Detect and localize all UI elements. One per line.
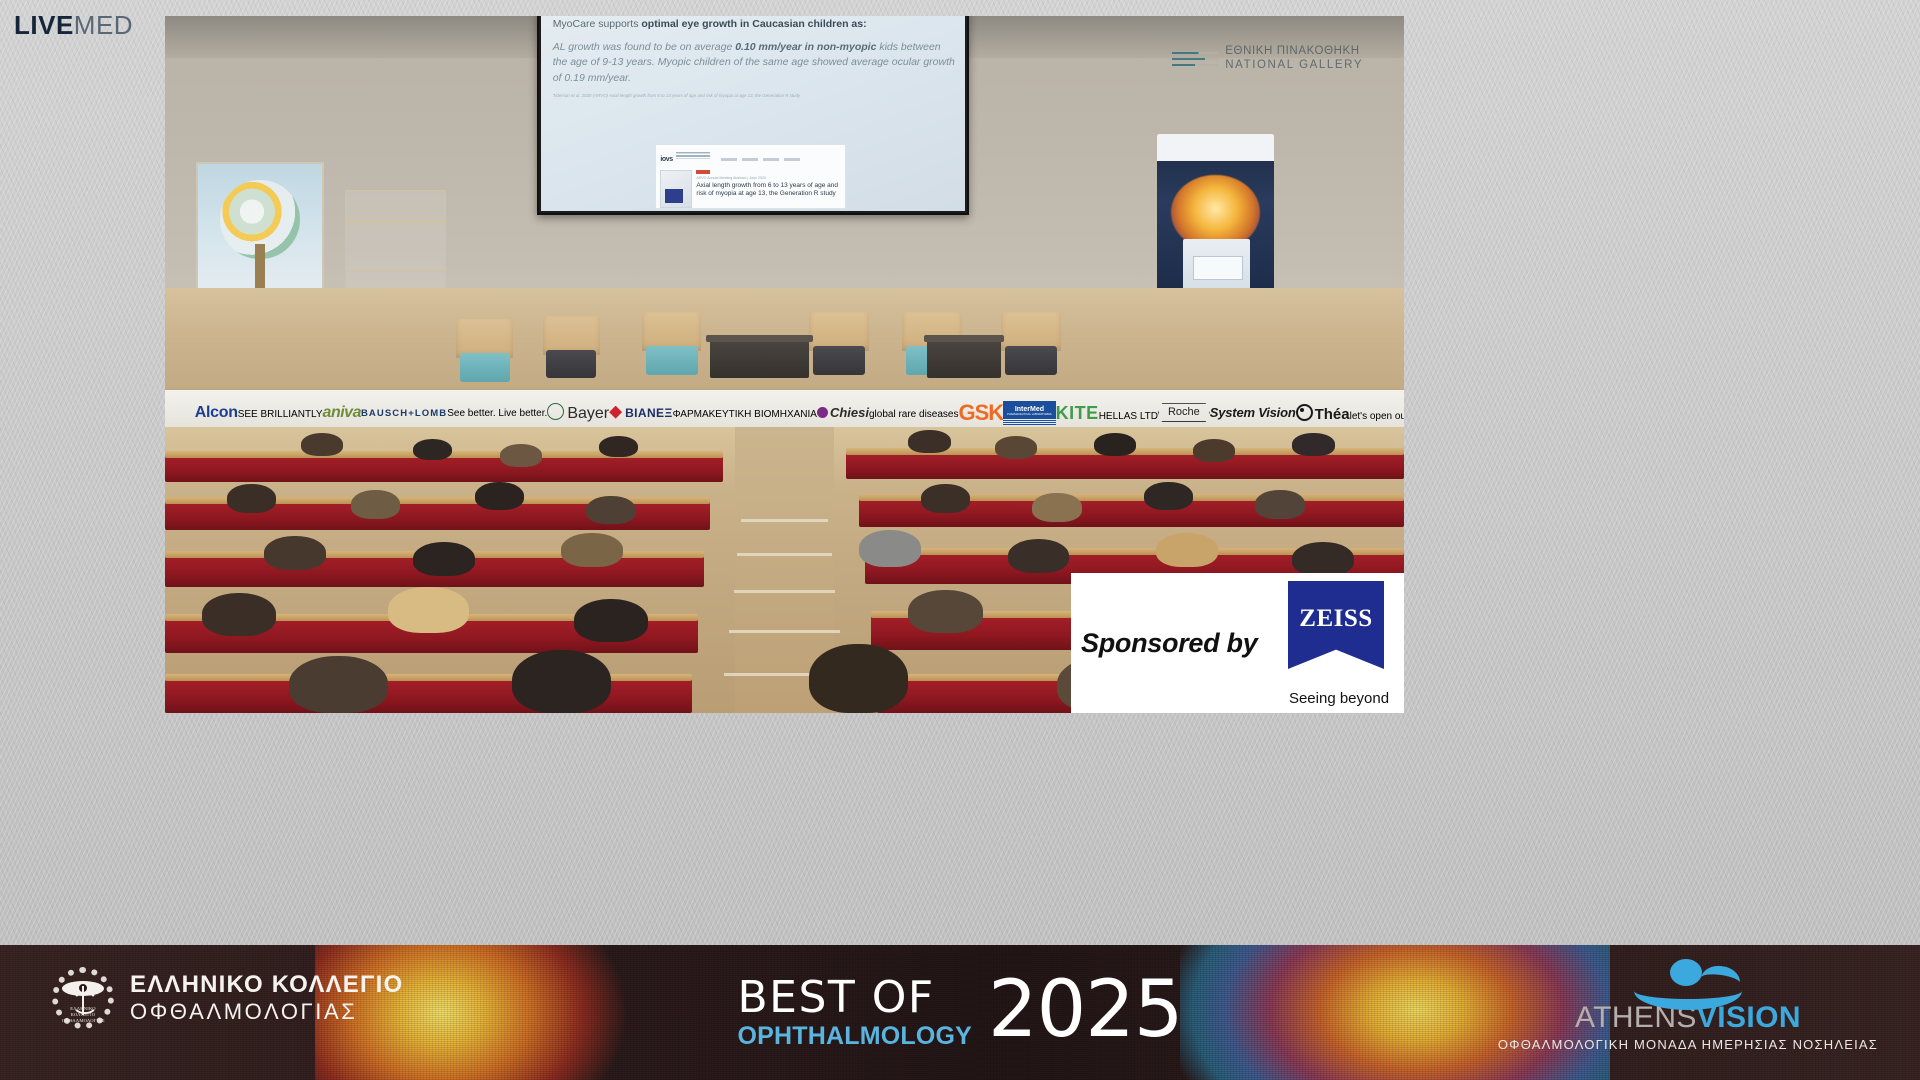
slide-heading-bold: optimal eye growth in Caucasian children… [641,18,866,30]
athens-vision-eye-icon [1634,959,1742,1003]
intermed-wave-icon [1003,419,1056,424]
sponsored-by-overlay: Sponsored by ZEISS Seeing beyond [1071,573,1404,713]
iovs-logo: iovs [660,156,672,163]
audience-person [586,496,636,525]
journal-cover-thumbnail [660,170,692,208]
nav-item-icon [784,158,800,161]
stage-chair [543,316,600,379]
gallery-name: ΕΘΝΙΚΗ ΠΙΝΑΚΟΘΗΚΗ NATIONAL GALLERY [1225,45,1363,73]
article-type-badge [696,170,710,174]
sponsor-logo-aniva-text: aniva [323,405,361,421]
seat-row [165,456,723,482]
sponsor-logo-bausch-lomb: BAUSCH+LOMBSee better. Live better. [361,406,547,419]
gallery-name-greek: ΕΘΝΙΚΗ ΠΙΝΑΚΟΘΗΚΗ [1225,45,1363,59]
slide-body-bold: 0.10 mm/year in non-myopic [735,41,876,53]
nav-item-icon [742,158,758,161]
sponsor-logo-bayer: Bayer [547,403,609,422]
chiesi-wordmark: Chiesi [830,405,869,420]
sponsor-logo-kite-text: KITE [1056,403,1099,423]
audience-person [908,590,982,633]
audience-person [561,533,623,567]
chair-cushion [460,353,510,382]
sponsor-logo-roche: Roche [1158,403,1210,422]
audience-person [413,439,453,460]
presentation-slide: MyoCare supports optimal eye growth in C… [541,16,966,211]
stage-chair [642,312,701,375]
aisle-step [729,630,841,633]
article-meta: ARVO Annual Meeting Abstract | June 2020 [696,176,841,180]
intermed-wordmark: InterMed [1015,406,1044,413]
audience-person [1255,490,1305,519]
seat-armrest [165,674,692,681]
stage-chair [1001,312,1060,375]
audience-person [921,484,971,513]
cart-shelf [346,271,445,273]
aisle-step [741,519,828,522]
sponsor-logo-gsk-text: GSK [958,402,1003,424]
zeiss-logo-mark: ZEISS [1288,581,1384,669]
article-title: Axial length growth from 6 to 13 years o… [696,182,841,198]
seat-row [846,453,1404,479]
sponsor-logo-kite-tagline: HELLAS LTD [1099,411,1158,422]
slide-body: AL growth was found to be on average 0.1… [553,40,956,86]
sponsor-logo-bausch-lomb-tagline: See better. Live better. [447,408,547,419]
stage-table [927,340,1001,378]
sponsor-logo-intermed-tagline: PHARMACEUTICAL LABORATORIES [1007,414,1052,417]
stage-table [710,340,809,378]
sponsor-logo-gsk: GSK [958,402,1003,424]
video-player[interactable]: MyoCare supports optimal eye growth in C… [165,16,1404,713]
slide-journal-card: iovs ARVO Annual Meeting Abstract | June… [655,144,846,209]
chair-cushion [546,350,596,379]
audience-person [574,599,648,642]
sponsor-logo-chiesi-text: Chiesi [817,405,869,420]
audience-person [351,490,401,519]
audience-person [809,644,908,713]
college-name: ΕΛΛΗΝΙΚΟ ΚΟΛΛΕΓΙΟ ΟΦΘΑΛΜΟΛΟΓΙΑΣ [130,970,403,1026]
bianex-wordmark: BIANEΞ [625,406,672,420]
audience-person [859,530,921,567]
sponsored-by-label: Sponsored by [1071,628,1274,659]
audience-person [1156,533,1218,567]
audience-person [475,482,525,511]
podium-banner-header [1157,134,1273,161]
chair-cushion [646,346,698,375]
projection-screen: MyoCare supports optimal eye growth in C… [537,16,970,215]
zeiss-logo-text: ZEISS [1299,605,1372,633]
chair-back [543,316,600,355]
athens-vision-subtitle: ΟΦΘΑΛΜΟΛΟΓΙΚΗ ΜΟΝΑΔΑ ΗΜΕΡΗΣΙΑΣ ΝΟΣΗΛΕΙΑΣ [1498,1037,1878,1052]
college-emblem-caption: ΕΛΛΗΝΙΚΟ ΚΟΛΛΕΓΙΟ ΟΦΘΑΛΜΟΛΟΓΙΑΣ [62,1006,104,1023]
journal-nav [716,148,800,166]
audience-person [1193,439,1235,462]
college-name-line1: ΕΛΛΗΝΙΚΟ ΚΟΛΛΕΓΙΟ [130,970,403,999]
lectern-screen [1193,256,1243,280]
audience-person [1144,482,1194,511]
bar-icon [1172,58,1218,61]
iovs-band [676,152,710,159]
sponsor-logo-intermed-text: InterMedPHARMACEUTICAL LABORATORIES [1003,401,1056,425]
thea-eye-icon [1296,404,1313,421]
slide-citation: Tideman et al. 2020 (ARVO) Axial length … [553,93,956,98]
gallery-name-english: NATIONAL GALLERY [1225,59,1363,73]
zeiss-tagline: Seeing beyond [1274,690,1404,707]
eye-swoosh-upper [1699,963,1741,996]
bar-icon [1172,64,1218,67]
audience-person [995,436,1037,459]
aisle-step [734,590,836,593]
sponsor-logo-chiesi-tagline: global rare diseases [869,409,959,420]
sponsor-logo-system-vision-text: System Vision [1210,406,1296,419]
sponsor-logo-aniva: aniva [323,405,361,421]
chair-cushion [813,346,865,375]
gallery-bars-icon [1172,52,1218,67]
sponsor-logo-bayer-text: Bayer [547,403,609,422]
sponsor-logo-bianex-text: BIANEΞ [609,406,672,420]
livemed-logo: LIVEMED [14,12,133,38]
livemed-logo-med: MED [74,10,133,40]
zeiss-logo: ZEISS Seeing beyond [1274,573,1404,713]
sponsor-logo-kite-hellas: KITEHELLAS LTD [1056,404,1158,422]
slide-heading-plain: MyoCare supports [553,18,642,30]
hellenic-college-logo: ΕΛΛΗΝΙΚΟ ΚΟΛΛΕΓΙΟ ΟΦΘΑΛΜΟΛΟΓΙΑΣ ΕΛΛΗΝΙΚΟ… [52,967,403,1029]
chair-cushion [1005,346,1057,375]
audience-person [908,430,950,453]
audience-person [289,656,388,713]
sponsor-logo-thea-text: Théa [1296,406,1350,423]
audience-person [388,587,469,633]
table-top [706,335,813,342]
bayer-wordmark: Bayer [567,405,609,422]
audience-person [1008,539,1070,573]
slide-body-pre: AL growth was found to be on average [553,41,736,53]
sponsor-logo-thea: Théalet's open our eyes [1296,404,1404,422]
bar-icon [1172,52,1218,55]
audience-person [202,593,276,636]
sponsor-logo-alcon-tagline: SEE BRILLIANTLY [238,409,323,420]
audience-person [301,433,343,456]
seat-row [165,679,692,713]
audience-person [227,484,277,513]
stage-chair [809,312,868,375]
college-name-line2: ΟΦΘΑΛΜΟΛΟΓΙΑΣ [130,999,403,1026]
audience-person [1292,433,1334,456]
nav-item-icon [763,158,779,161]
sponsor-logo-bianex: BIANEΞΦΑΡΜΑΚΕΥΤΙΚΗ ΒΙΟΜΗΧΑΝΙΑ [609,406,817,420]
sponsor-logo-thea-tagline: let's open our eyes [1350,411,1404,422]
sponsor-logo-roche-text: Roche [1158,403,1210,422]
audience-person [413,542,475,576]
cart-shelf [346,220,445,222]
national-gallery-logo: ΕΘΝΙΚΗ ΠΙΝΑΚΟΘΗΚΗ NATIONAL GALLERY [1172,45,1363,73]
slide-heading: MyoCare supports optimal eye growth in C… [553,17,956,31]
sponsor-logo-chiesi: Chiesiglobal rare diseases [817,406,959,420]
athens-vision-logo: ATHENSVISION ΟΦΘΑΛΜΟΛΟΓΙΚΗ ΜΟΝΑΔΑ ΗΜΕΡΗΣ… [1498,959,1878,1052]
audience-person [500,444,542,467]
sponsor-logo-intermed: InterMedPHARMACEUTICAL LABORATORIES [1003,401,1056,425]
sponsor-logo-bianex-tagline: ΦΑΡΜΑΚΕΥΤΙΚΗ ΒΙΟΜΗΧΑΝΙΑ [673,409,817,420]
sponsor-logo-alcon-text: Alcon [195,404,238,421]
thea-wordmark: Théa [1315,406,1350,423]
event-bottom-banner: ΕΛΛΗΝΙΚΟ ΚΟΛΛΕΓΙΟ ΟΦΘΑΛΜΟΛΟΓΙΑΣ ΕΛΛΗΝΙΚΟ… [0,945,1920,1080]
table-top [924,335,1004,342]
aisle-step [737,553,831,556]
sponsor-logo-bausch-lomb-text: BAUSCH+LOMB [361,408,447,419]
audience-person [512,650,611,713]
audience-person [599,436,639,457]
audience-person [1292,542,1354,576]
journal-card-text: ARVO Annual Meeting Abstract | June 2020… [696,170,841,208]
sponsor-logo-system-vision: System Vision [1210,406,1296,419]
nav-item-icon [721,158,737,161]
bianex-diamond-icon [609,406,622,419]
college-emblem-icon: ΕΛΛΗΝΙΚΟ ΚΟΛΛΕΓΙΟ ΟΦΘΑΛΜΟΛΟΓΙΑΣ [52,967,114,1029]
audience-person [1032,493,1082,522]
bayer-cross-icon [547,403,564,420]
livemed-logo-live: LIVE [14,10,74,40]
stage-chair [456,319,513,382]
audience-person [264,536,326,570]
journal-card-body: ARVO Annual Meeting Abstract | June 2020… [660,170,841,208]
sponsor-logo-alcon: AlconSEE BRILLIANTLY [195,405,323,421]
chiesi-arrow-icon [817,407,828,418]
audience-person [1094,433,1136,456]
